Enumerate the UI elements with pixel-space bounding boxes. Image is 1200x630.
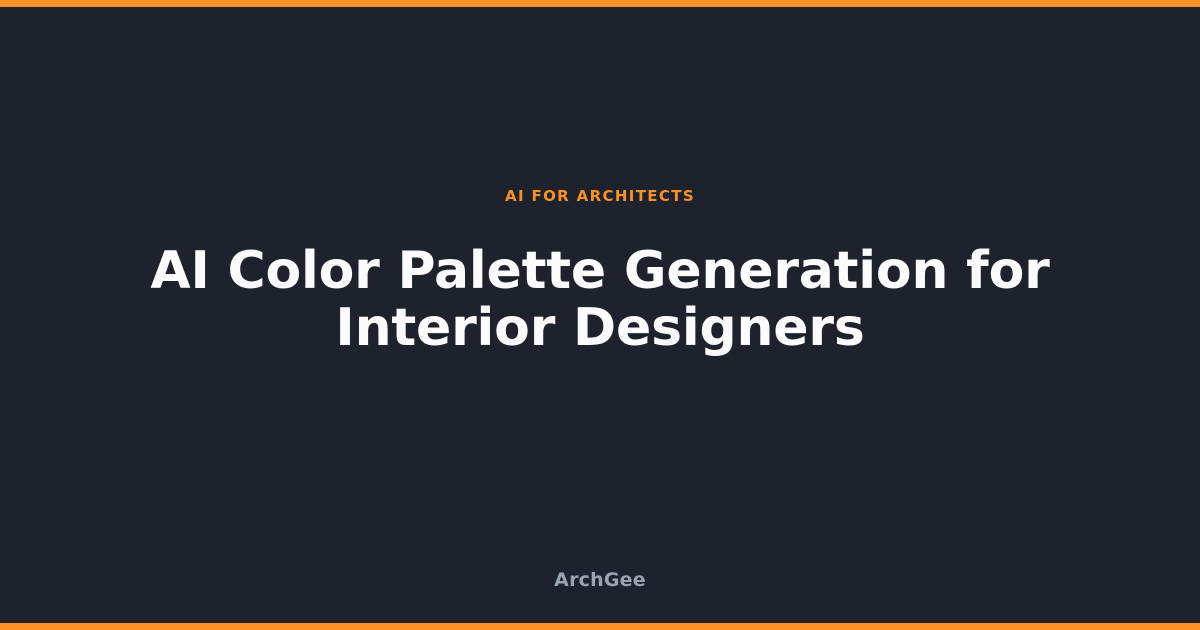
page-title-line-1: AI Color Palette Generation for bbox=[100, 243, 1100, 300]
bottom-accent-bar bbox=[0, 623, 1200, 630]
brand-name: ArchGee bbox=[554, 568, 646, 592]
card-footer: ArchGee bbox=[0, 568, 1200, 623]
eyebrow-label: AI FOR ARCHITECTS bbox=[505, 186, 695, 206]
top-accent-bar bbox=[0, 0, 1200, 7]
page-title-line-2: Interior Designers bbox=[100, 300, 1100, 357]
card-content: AI FOR ARCHITECTS AI Color Palette Gener… bbox=[0, 7, 1200, 568]
social-share-card: AI FOR ARCHITECTS AI Color Palette Gener… bbox=[0, 0, 1200, 630]
page-title: AI Color Palette Generation for Interior… bbox=[100, 243, 1100, 357]
